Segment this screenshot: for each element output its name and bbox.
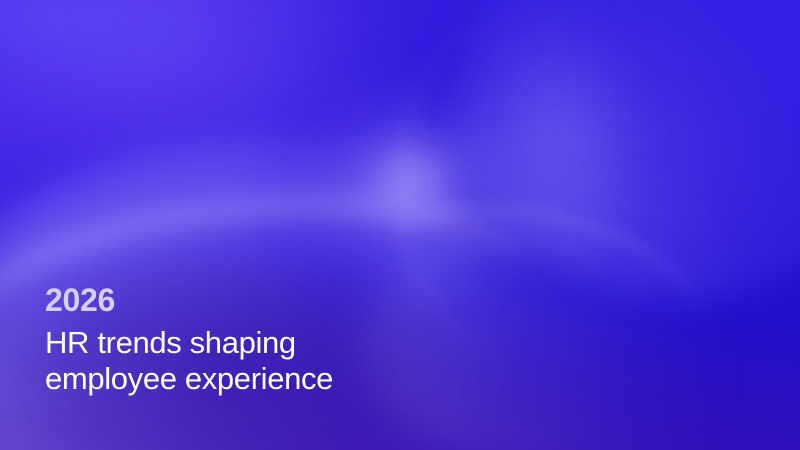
title-slide: 2026 HR trends shaping employee experien… — [0, 0, 800, 450]
page-title: HR trends shaping employee experience — [45, 325, 565, 398]
year-eyebrow: 2026 — [45, 284, 565, 317]
title-text-block: 2026 HR trends shaping employee experien… — [45, 284, 565, 397]
